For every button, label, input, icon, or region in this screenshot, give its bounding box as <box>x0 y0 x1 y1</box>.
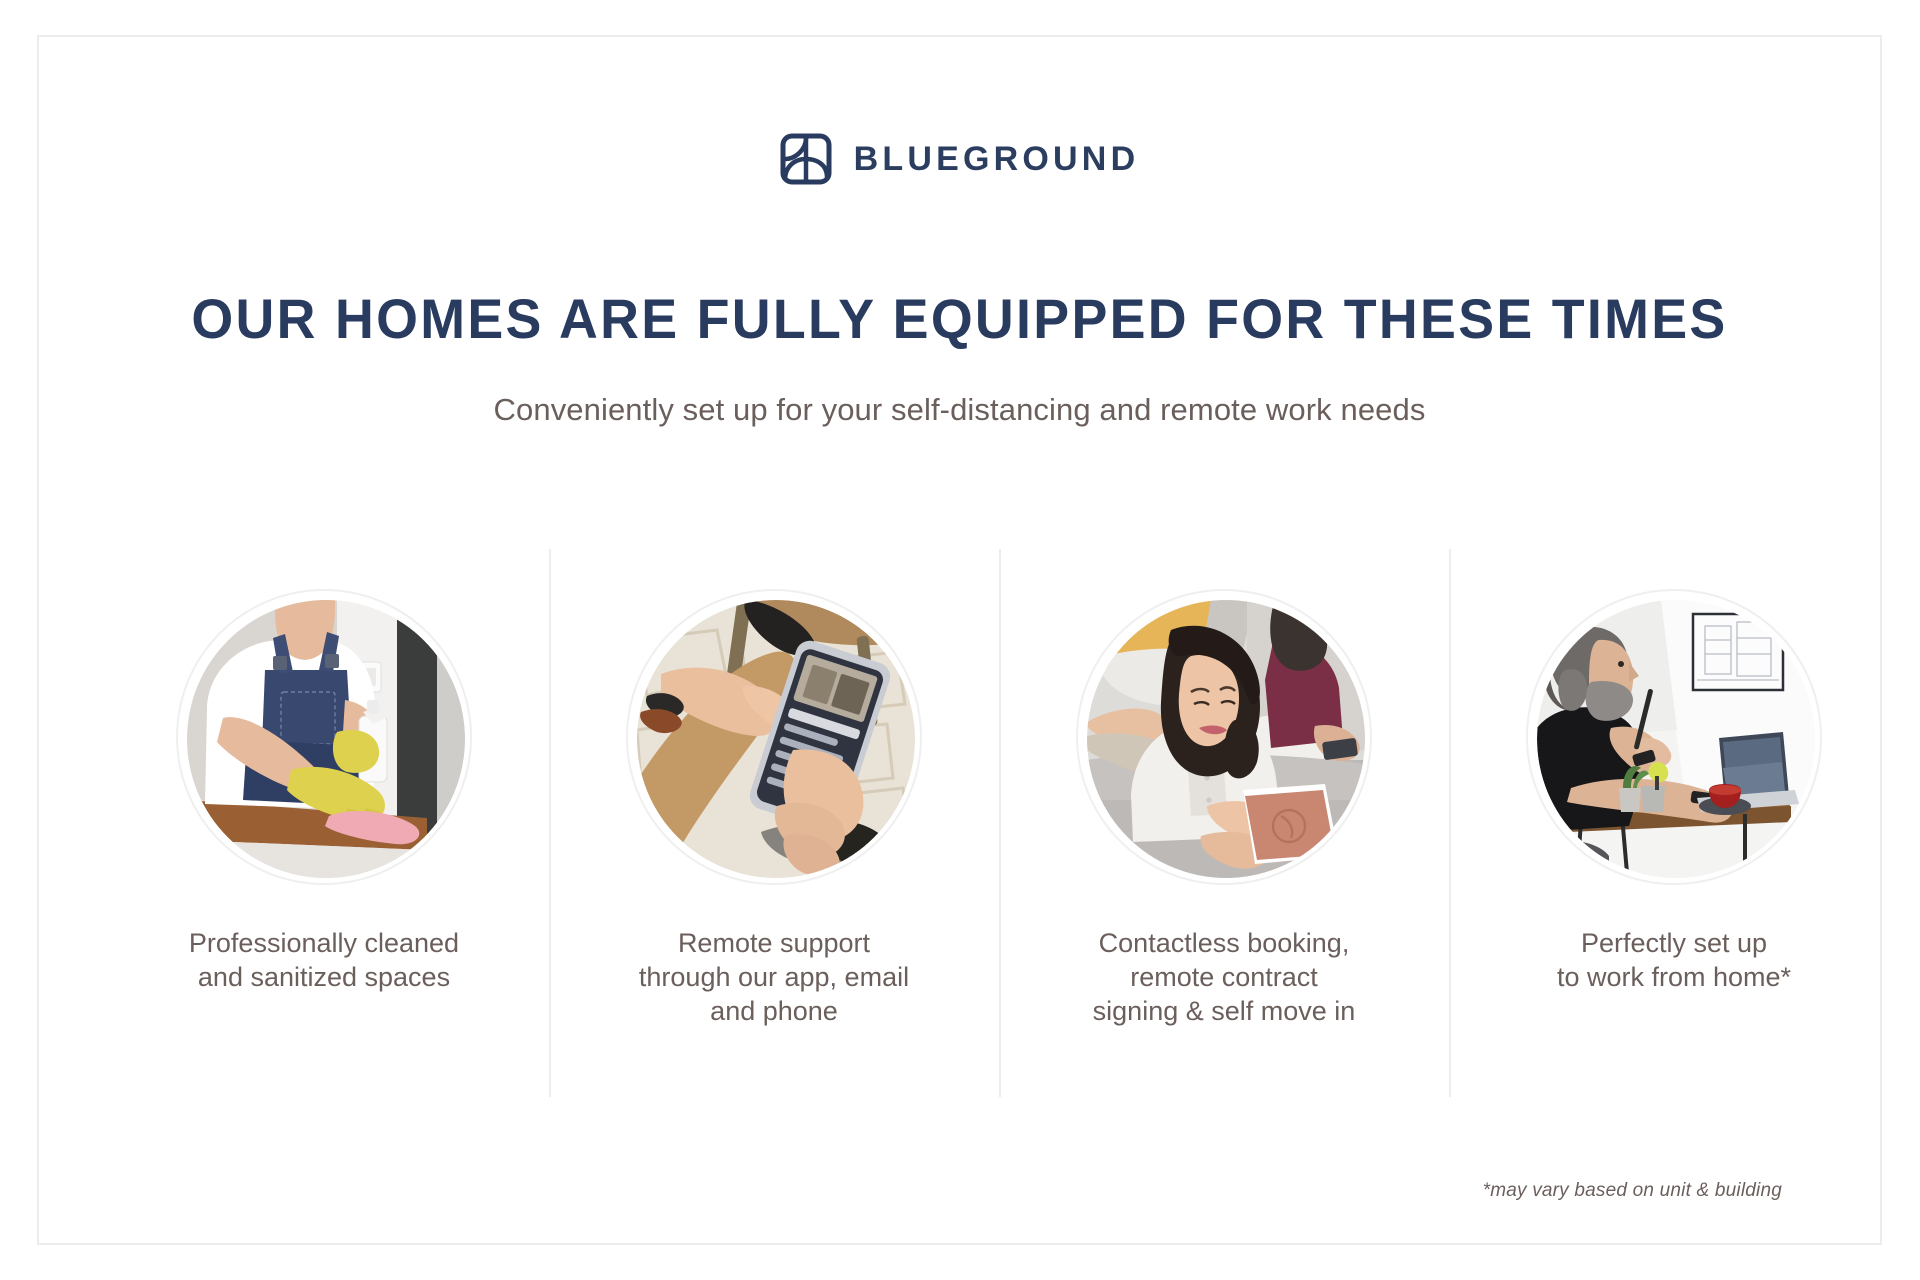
feature-image-cleaning <box>176 589 472 885</box>
feature-column-remote-support: Remote support through our app, email an… <box>549 549 999 1097</box>
feature-caption: Contactless booking, remote contract sig… <box>1059 927 1389 1028</box>
poster-canvas: BLUEGROUND OUR HOMES ARE FULLY EQUIPPED … <box>0 0 1920 1280</box>
blueground-square-logo-icon <box>780 133 832 185</box>
brand-logo: BLUEGROUND <box>39 133 1880 185</box>
photo-tablet-booking <box>1087 600 1365 878</box>
photo-cleaner <box>187 600 465 878</box>
feature-caption: Perfectly set up to work from home* <box>1509 927 1839 995</box>
feature-caption: Remote support through our app, email an… <box>609 927 939 1028</box>
feature-image-contactless-booking <box>1076 589 1372 885</box>
outer-frame: BLUEGROUND OUR HOMES ARE FULLY EQUIPPED … <box>37 35 1882 1245</box>
caption-line: and phone <box>710 996 838 1026</box>
feature-column-cleaning: Professionally cleaned and sanitized spa… <box>99 549 549 1097</box>
caption-line: to work from home* <box>1557 962 1791 992</box>
feature-column-work-from-home: Perfectly set up to work from home* <box>1449 549 1899 1097</box>
page-title: OUR HOMES ARE FULLY EQUIPPED FOR THESE T… <box>76 290 1843 349</box>
caption-line: Perfectly set up <box>1581 928 1767 958</box>
photo-man-at-desk <box>1537 600 1815 878</box>
caption-line: Contactless booking, <box>1099 928 1350 958</box>
caption-line: Professionally cleaned <box>189 928 459 958</box>
page-subtitle: Conveniently set up for your self-distan… <box>39 392 1880 428</box>
feature-image-work-from-home <box>1526 589 1822 885</box>
caption-line: and sanitized spaces <box>198 962 450 992</box>
caption-line: signing & self move in <box>1093 996 1356 1026</box>
caption-line: Remote support <box>678 928 870 958</box>
brand-wordmark: BLUEGROUND <box>854 140 1140 179</box>
caption-line: remote contract <box>1130 962 1318 992</box>
feature-column-contactless-booking: Contactless booking, remote contract sig… <box>999 549 1449 1097</box>
feature-columns: Professionally cleaned and sanitized spa… <box>99 549 1899 1097</box>
feature-image-remote-support <box>626 589 922 885</box>
photo-phone-app <box>637 600 915 878</box>
footnote: *may vary based on unit & building <box>1483 1180 1782 1202</box>
feature-caption: Professionally cleaned and sanitized spa… <box>159 927 489 995</box>
caption-line: through our app, email <box>639 962 909 992</box>
